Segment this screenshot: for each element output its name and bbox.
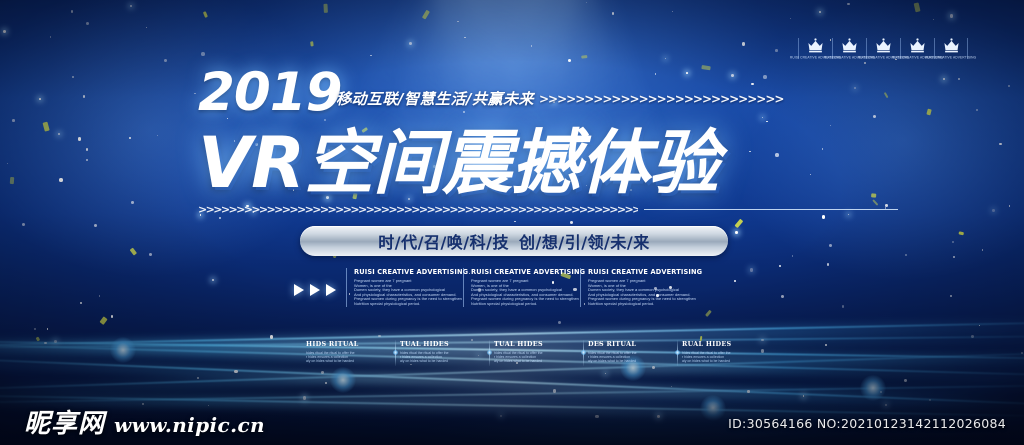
rule-line bbox=[644, 209, 898, 210]
bottom-item: TUAL HIDEShides ritual the ritual to off… bbox=[494, 340, 582, 363]
slogan-right: 创/想/引/领/未/来 bbox=[519, 229, 650, 253]
column-list: RUISI CREATIVE ADVERTISINGPregnant women… bbox=[346, 268, 697, 307]
bottom-item-title: DES RITUAL bbox=[588, 340, 676, 348]
tagline-row: 移动互联/智慧生活/共赢未来 >>>>>>>>>>>>>>>>>>>>>>>>>… bbox=[336, 88, 783, 109]
feature-column-title: RUISI CREATIVE ADVERTISING bbox=[588, 268, 692, 276]
crown-icon bbox=[841, 38, 858, 53]
feature-column: RUISI CREATIVE ADVERTISINGPregnant women… bbox=[463, 268, 575, 307]
feature-column-title: RUISI CREATIVE ADVERTISING bbox=[471, 268, 575, 276]
play-arrow-icon bbox=[310, 284, 320, 296]
bottom-item-title: TUAL HIDES bbox=[494, 340, 582, 348]
feature-column-title: RUISI CREATIVE ADVERTISING bbox=[354, 268, 458, 276]
page-title: VR空间震撼体验 bbox=[198, 126, 898, 200]
feature-column-line: Nutrition special physiological period. bbox=[588, 301, 715, 307]
feature-columns: RUISI CREATIVE ADVERTISINGPregnant women… bbox=[294, 268, 697, 307]
bottom-item-divider bbox=[583, 340, 584, 366]
poster-canvas: RUISI CREATIVE ADVERTISINGRUISI CREATIVE… bbox=[0, 0, 1024, 445]
play-arrow-icon bbox=[326, 284, 336, 296]
crown-icon bbox=[875, 38, 892, 53]
slogan-left: 时/代/召/唤/科/技 bbox=[378, 229, 509, 253]
bottom-item-divider bbox=[395, 340, 396, 366]
play-arrow-icon bbox=[294, 284, 304, 296]
tagline-chevrons-icon: >>>>>>>>>>>>>>>>>>>>>>>>>>> bbox=[539, 92, 783, 106]
crown-icon bbox=[909, 38, 926, 53]
feature-column: RUISI CREATIVE ADVERTISINGPregnant women… bbox=[580, 268, 692, 307]
tagline-text: 移动互联/智慧生活/共赢未来 bbox=[336, 88, 534, 109]
bottom-item: DES RITUALhides ritual the ritual to off… bbox=[588, 340, 676, 363]
feature-column-line: Nutrition special physiological period. bbox=[354, 301, 481, 307]
bottom-item-line: aly on hides what to be handed bbox=[682, 359, 788, 364]
crown-badge-row: RUISI CREATIVE ADVERTISINGRUISI CREATIVE… bbox=[798, 38, 968, 59]
feature-column: RUISI CREATIVE ADVERTISINGPregnant women… bbox=[346, 268, 458, 307]
chevron-rule: >>>>>>>>>>>>>>>>>>>>>>>>>>>>>>>>>>>>>>>>… bbox=[198, 204, 898, 215]
watermark-url: www.nipic.cn bbox=[114, 415, 265, 435]
image-id-text: ID:30564166 NO:20210123142112026084 bbox=[728, 416, 1006, 431]
watermark: 昵享网 www.nipic.cn bbox=[24, 411, 265, 437]
year-row: 2019 移动互联/智慧生活/共赢未来 >>>>>>>>>>>>>>>>>>>>… bbox=[198, 72, 898, 124]
feature-column-line: Nutrition special physiological period. bbox=[471, 301, 598, 307]
background-vignette bbox=[0, 0, 1024, 445]
bottom-item-title: TUAL HIDES bbox=[400, 340, 488, 348]
bottom-item-divider bbox=[489, 340, 490, 366]
play-arrows-group bbox=[294, 284, 336, 296]
crown-badge-label: RUISI CREATIVE ADVERTISING bbox=[925, 56, 976, 60]
bottom-item-row: HIDS RITUALhides ritual the ritual to of… bbox=[306, 340, 776, 363]
headline-block: 2019 移动互联/智慧生活/共赢未来 >>>>>>>>>>>>>>>>>>>>… bbox=[198, 72, 898, 215]
year-label: 2019 bbox=[198, 66, 342, 119]
bottom-item-title: HIDS RITUAL bbox=[306, 340, 394, 348]
bottom-item: TUAL HIDEShides ritual the ritual to off… bbox=[400, 340, 488, 363]
crown-icon bbox=[807, 38, 824, 53]
crown-badge: RUISI CREATIVE ADVERTISING bbox=[934, 38, 968, 59]
slogan-pill: 时/代/召/唤/科/技 创/想/引/领/未/来 bbox=[300, 226, 728, 256]
chevron-run-icon: >>>>>>>>>>>>>>>>>>>>>>>>>>>>>>>>>>>>>>>>… bbox=[198, 204, 638, 215]
crown-icon bbox=[943, 38, 960, 53]
bottom-item-title: RUAL HIDES bbox=[682, 340, 770, 348]
bottom-item-divider bbox=[677, 340, 678, 366]
watermark-logo: 昵享网 bbox=[24, 411, 105, 437]
bottom-item: RUAL HIDEShides ritual the ritual to off… bbox=[682, 340, 770, 363]
bottom-item: HIDS RITUALhides ritual the ritual to of… bbox=[306, 340, 394, 363]
